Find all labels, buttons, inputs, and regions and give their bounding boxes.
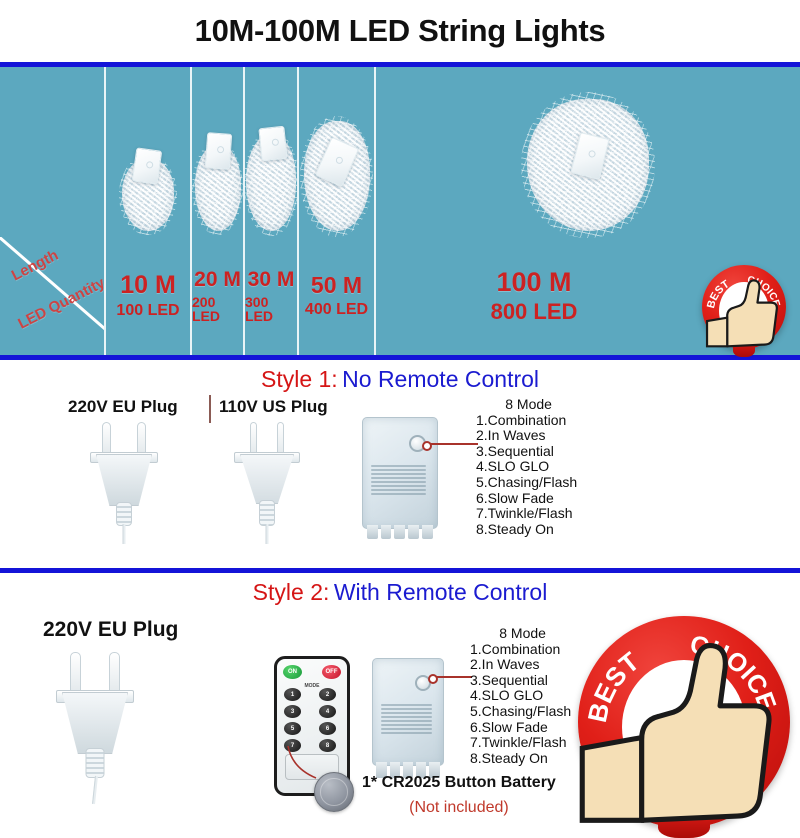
remote-off-button[interactable]: OFF bbox=[322, 665, 341, 679]
battery-text-block: 1* CR2025 Button Battery (Not included) bbox=[362, 774, 556, 817]
remote-key[interactable]: 1 bbox=[284, 688, 301, 701]
controller-printed-modes bbox=[371, 465, 426, 495]
controller-box-style1 bbox=[362, 417, 438, 529]
mode-item: 1.Combination bbox=[476, 413, 577, 429]
battery-spec-label: 1* CR2025 Button Battery bbox=[362, 774, 556, 792]
thumbs-up-icon bbox=[578, 616, 790, 838]
style1-body: 220V EU Plug 110V US Plug 8 Mode bbox=[0, 395, 800, 568]
photo-cell-empty bbox=[0, 67, 104, 237]
mode-item: 5.Chasing/Flash bbox=[470, 704, 571, 720]
mode-item: 5.Chasing/Flash bbox=[476, 475, 577, 491]
led-count-value: 300 LED bbox=[245, 295, 297, 323]
controller-wires bbox=[367, 525, 434, 539]
light-coil-icon bbox=[122, 159, 174, 231]
style2-name: With Remote Control bbox=[334, 579, 547, 605]
light-coil-icon bbox=[195, 145, 241, 231]
photo-cell-10m bbox=[104, 67, 190, 237]
led-count-value: 400 LED bbox=[305, 302, 368, 318]
best-choice-badge-large: BEST CHOICE bbox=[578, 616, 790, 838]
remote-on-button[interactable]: ON bbox=[283, 665, 302, 679]
page-header: 10M-100M LED String Lights bbox=[0, 0, 800, 62]
us-plug-image bbox=[240, 422, 294, 518]
style1-heading: Style 1: No Remote Control bbox=[0, 360, 800, 395]
light-coil-icon bbox=[246, 135, 296, 231]
style1-mode-pointer bbox=[426, 443, 478, 445]
led-count-value: 100 LED bbox=[116, 303, 179, 319]
mode-item: 3.Sequential bbox=[476, 444, 577, 460]
eu-plug-image bbox=[96, 422, 152, 518]
spec-cell-20m: 20 M 200 LED bbox=[190, 237, 243, 355]
light-coil-icon bbox=[304, 121, 370, 231]
length-value: 20 M bbox=[194, 269, 241, 290]
controller-printed-modes bbox=[381, 704, 433, 734]
remote-key[interactable]: 5 bbox=[284, 722, 301, 735]
style1-name: No Remote Control bbox=[342, 366, 539, 392]
battery-pointer-line bbox=[286, 744, 328, 786]
style2-eu-plug-label: 220V EU Plug bbox=[43, 618, 178, 642]
style2-mode-list: 8 Mode 1.Combination 2.In Waves 3.Sequen… bbox=[470, 626, 571, 766]
corner-label-led-quantity: LED Quantity bbox=[15, 274, 104, 332]
spec-table: Length LED Quantity 10 M 100 LED 20 M 20… bbox=[0, 67, 800, 355]
remote-key[interactable]: 2 bbox=[319, 688, 336, 701]
spec-cell-10m: 10 M 100 LED bbox=[104, 237, 190, 355]
mode-item: 2.In Waves bbox=[470, 657, 571, 673]
length-value: 50 M bbox=[311, 274, 362, 297]
led-count-value: 800 LED bbox=[491, 301, 578, 323]
spec-values-row: Length LED Quantity 10 M 100 LED 20 M 20… bbox=[0, 237, 800, 355]
style2-modes-title: 8 Mode bbox=[470, 626, 571, 642]
photo-cell-20m bbox=[190, 67, 243, 237]
remote-key[interactable]: 6 bbox=[319, 722, 336, 735]
length-value: 30 M bbox=[248, 269, 295, 290]
style1-us-plug-label: 110V US Plug bbox=[219, 397, 328, 417]
style1-modes-title: 8 Mode bbox=[476, 397, 577, 413]
style1-eu-plug-label: 220V EU Plug bbox=[68, 397, 178, 417]
style1-mode-list: 8 Mode 1.Combination 2.In Waves 3.Sequen… bbox=[476, 397, 577, 537]
mode-item: 7.Twinkle/Flash bbox=[470, 735, 571, 751]
eu-plug-image bbox=[62, 652, 128, 768]
style2-prefix: Style 2: bbox=[253, 579, 330, 605]
table-corner-header: Length LED Quantity bbox=[0, 237, 104, 355]
remote-key[interactable]: 4 bbox=[319, 705, 336, 718]
thumbs-up-icon bbox=[702, 265, 786, 357]
light-coil-icon bbox=[527, 99, 649, 231]
style1-prefix: Style 1: bbox=[261, 366, 338, 392]
photo-cell-30m bbox=[243, 67, 297, 237]
mode-item: 3.Sequential bbox=[470, 673, 571, 689]
mode-item: 4.SLO GLO bbox=[476, 459, 577, 475]
mode-item: 8.Steady On bbox=[470, 751, 571, 767]
style2-mode-pointer bbox=[432, 676, 472, 678]
battery-not-included-note: (Not included) bbox=[362, 799, 556, 817]
mode-item: 6.Slow Fade bbox=[470, 720, 571, 736]
led-count-value: 200 LED bbox=[192, 295, 243, 323]
page-title: 10M-100M LED String Lights bbox=[195, 13, 606, 49]
length-value: 100 M bbox=[496, 269, 571, 296]
length-value: 10 M bbox=[120, 273, 176, 298]
product-photo-row bbox=[0, 67, 800, 237]
style1-label-divider bbox=[209, 395, 211, 423]
photo-cell-50m bbox=[297, 67, 374, 237]
mode-item: 4.SLO GLO bbox=[470, 688, 571, 704]
spec-cell-30m: 30 M 300 LED bbox=[243, 237, 297, 355]
mode-item: 7.Twinkle/Flash bbox=[476, 506, 577, 522]
remote-key[interactable]: 3 bbox=[284, 705, 301, 718]
mode-item: 2.In Waves bbox=[476, 428, 577, 444]
mode-item: 8.Steady On bbox=[476, 522, 577, 538]
best-choice-badge-small: BEST CHOICE bbox=[702, 265, 786, 357]
mode-item: 1.Combination bbox=[470, 642, 571, 658]
photo-cell-100m bbox=[374, 67, 800, 237]
spec-cell-50m: 50 M 400 LED bbox=[297, 237, 374, 355]
style2-body: 220V EU Plug ON OFF MODE 1 2 3 4 5 6 7 8 bbox=[0, 608, 800, 830]
mode-item: 6.Slow Fade bbox=[476, 491, 577, 507]
style2-heading: Style 2: With Remote Control bbox=[0, 573, 800, 608]
